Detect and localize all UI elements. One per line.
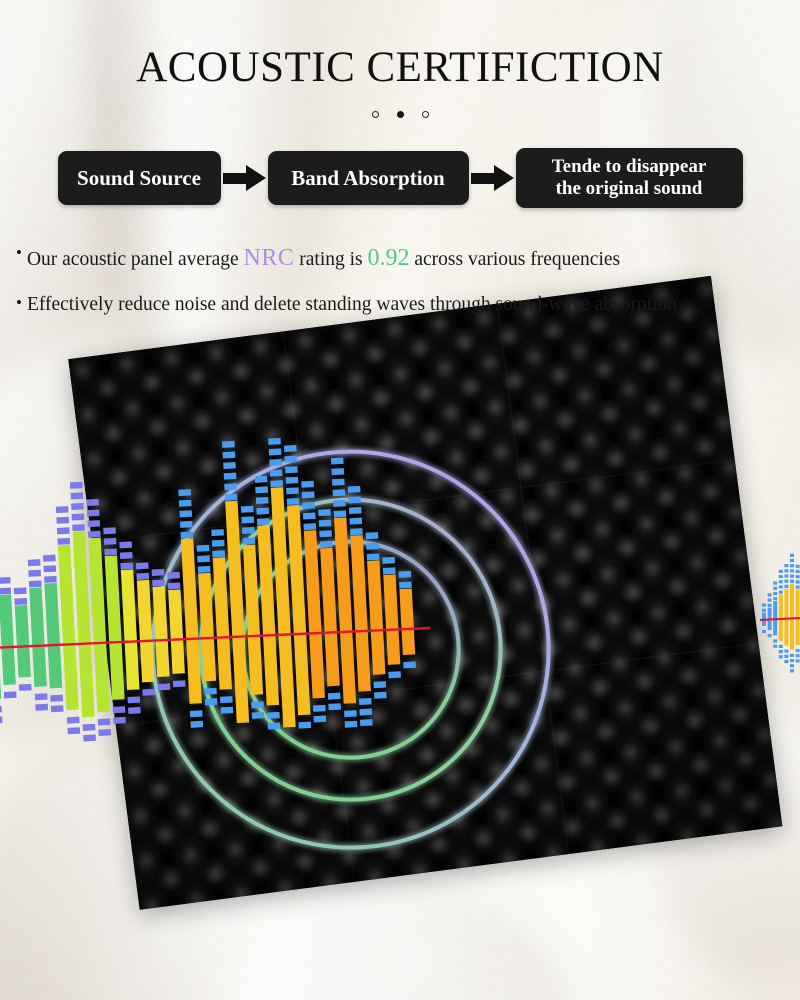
dot-2[interactable] [397,111,404,118]
acoustic-foam-panel [68,276,782,910]
pager-dots[interactable] [0,111,800,118]
flow-step-tende-to-disappear[interactable]: Tende to disappear the original sound [516,148,743,208]
flow-step-3-line2: the original sound [556,178,703,199]
bullet-1-pre: Our acoustic panel average [27,249,244,270]
rating-highlight: 0.92 [368,245,410,271]
header: ACOUSTIC CERTIFICTION [0,0,800,118]
panel-vignette [68,276,782,910]
nrc-highlight: NRC [244,245,295,271]
dot-1[interactable] [372,111,379,118]
flow-step-3-line1: Tende to disappear [552,156,707,177]
flow-step-band-absorption[interactable]: Band Absorption [268,151,469,205]
bullet-1-post: across various frequencies [410,249,621,270]
process-flow: Sound Source Band Absorption Tende to di… [0,143,800,213]
feature-bullets: • Our acoustic panel average NRC rating … [16,240,788,333]
bullet-text-2: Effectively reduce noise and delete stan… [27,290,788,320]
bullet-text-1: Our acoustic panel average NRC rating is… [27,240,788,277]
bullet-marker: • [16,240,22,266]
list-item: • Our acoustic panel average NRC rating … [16,240,788,277]
flow-step-sound-source[interactable]: Sound Source [58,151,221,205]
page-title: ACOUSTIC CERTIFICTION [0,46,800,89]
bullet-marker: • [16,290,22,316]
arrow-right-icon [469,165,516,191]
dot-3[interactable] [422,111,429,118]
list-item: • Effectively reduce noise and delete st… [16,290,788,320]
arrow-right-icon [221,165,268,191]
bullet-1-mid: rating is [294,249,367,270]
